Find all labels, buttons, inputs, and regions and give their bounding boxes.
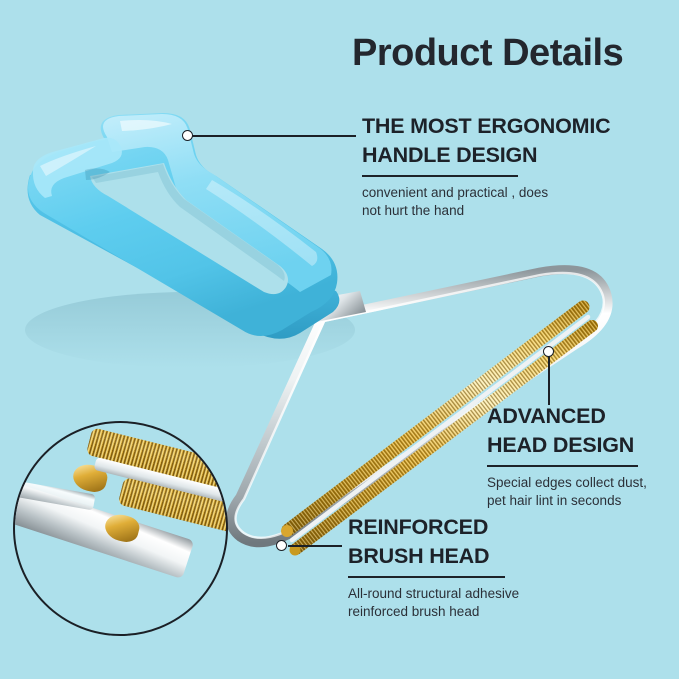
handle-cutout-shading [92,164,285,281]
leader-dot-handle [182,130,193,141]
steel-joint-plate [310,291,366,322]
handle-shadow [25,292,355,368]
annotation-brush: REINFORCED BRUSH HEAD All-round structur… [348,513,568,622]
annotation-head: ADVANCED HEAD DESIGN Special edges colle… [487,402,679,511]
page-title: Product Details [352,34,652,72]
handle-notch-shadow [85,168,110,180]
magnified-brush-tip-inset [13,421,228,636]
leader-dot-brush [276,540,287,551]
annotation-brush-heading: REINFORCED BRUSH HEAD [348,513,568,571]
annotation-handle-rule [362,175,518,177]
handle-left-arm-top [33,138,122,198]
product-details-image: Product Details THE MOST ERGONOMIC HANDL… [0,0,679,679]
handle-highlight-3 [40,146,96,176]
leader-line-head [548,351,550,405]
annotation-handle-body: convenient and practical , does not hurt… [362,184,642,221]
handle-highlight-2 [206,180,317,266]
handle-inner-cutout [90,163,288,294]
leader-line-handle [192,135,356,137]
handle-side-face [28,175,340,339]
annotation-head-rule [487,465,638,467]
annotation-brush-rule [348,576,505,578]
annotation-brush-body: All-round structural adhesive reinforced… [348,585,568,622]
coil-tip-upper [281,525,293,537]
leader-dot-head [543,346,554,357]
annotation-handle: THE MOST ERGONOMIC HANDLE DESIGN conveni… [362,112,642,221]
handle-body [28,113,337,336]
annotation-handle-heading: THE MOST ERGONOMIC HANDLE DESIGN [362,112,642,170]
annotation-head-heading: ADVANCED HEAD DESIGN [487,402,679,460]
handle-top-face [103,114,331,292]
annotation-head-body: Special edges collect dust, pet hair lin… [487,474,679,511]
leader-line-brush [288,545,342,547]
ergonomic-handle [28,113,340,339]
handle-highlight-1 [120,120,172,131]
